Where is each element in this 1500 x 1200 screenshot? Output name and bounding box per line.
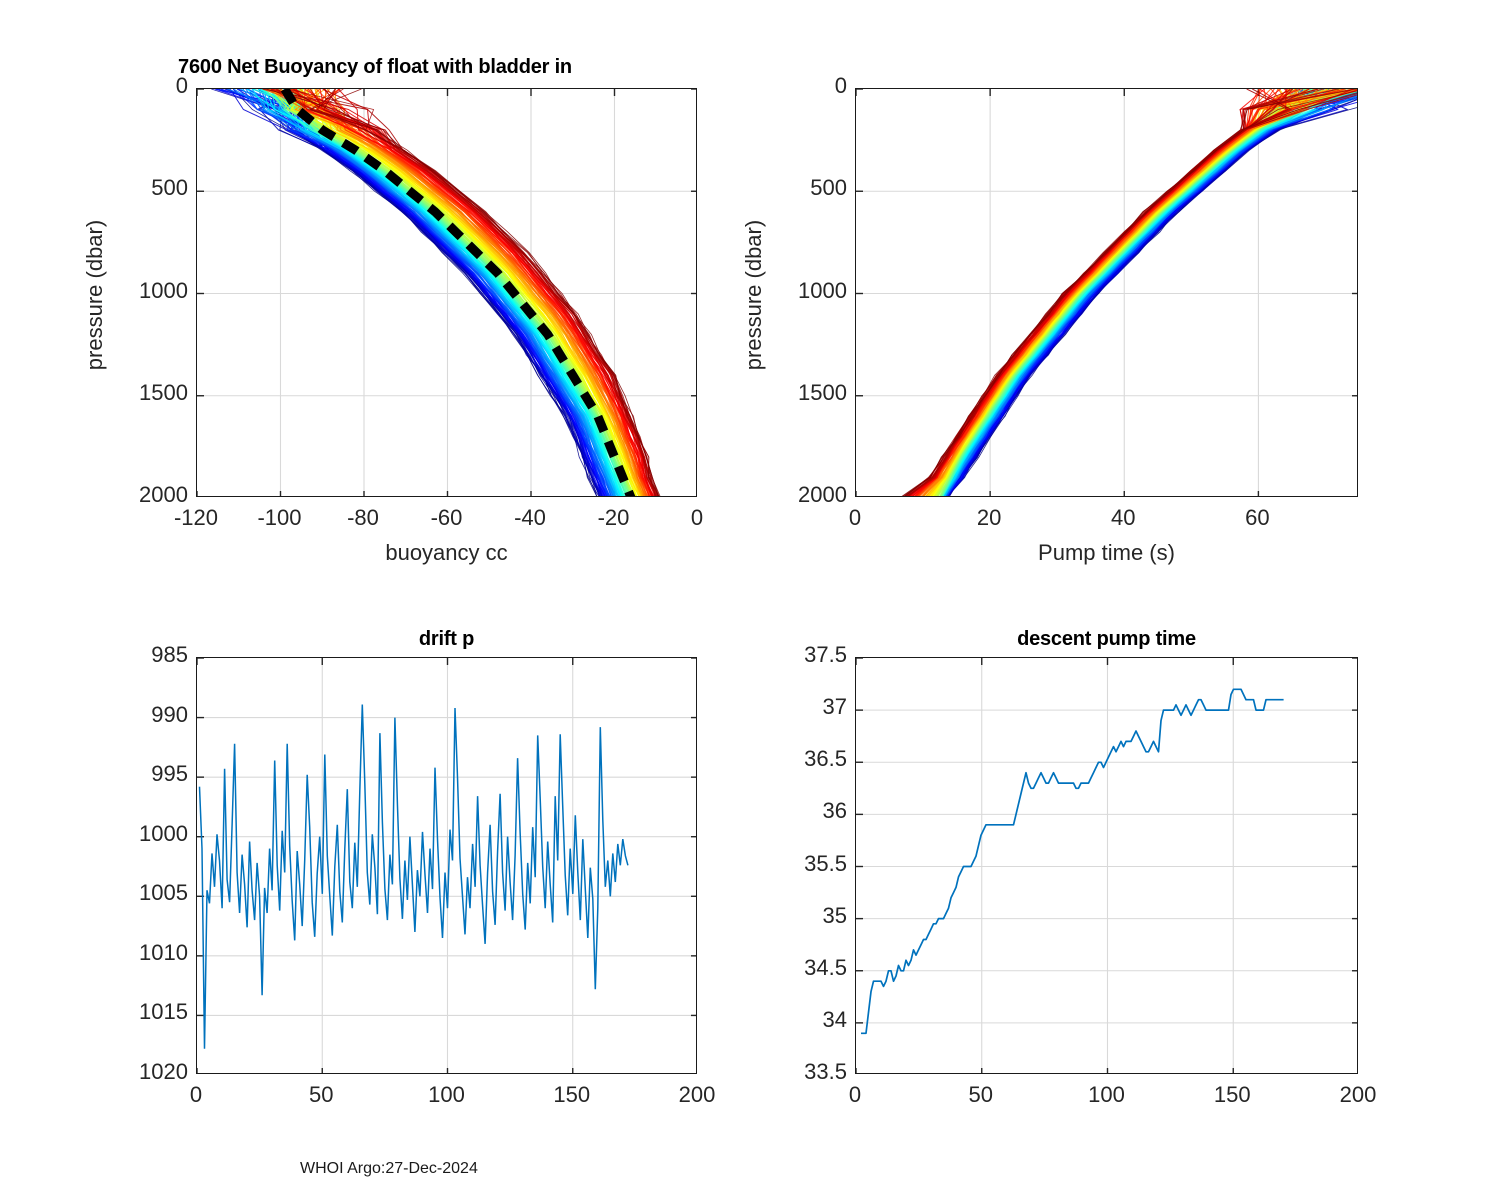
y-tick-label: 37: [761, 694, 847, 720]
y-tick-label: 2000: [102, 482, 188, 508]
x-tick-label: 40: [1083, 505, 1163, 531]
x-tick-label: -60: [407, 505, 487, 531]
buoyancy-xlabel: buoyancy cc: [196, 540, 697, 566]
x-tick-label: -100: [240, 505, 320, 531]
x-tick-label: 150: [1192, 1082, 1272, 1108]
x-tick-label: 0: [815, 505, 895, 531]
y-tick-label: 36.5: [761, 746, 847, 772]
y-tick-label: 985: [102, 642, 188, 668]
pumptime-xlabel: Pump time (s): [855, 540, 1358, 566]
x-tick-label: -40: [490, 505, 570, 531]
x-tick-label: 150: [532, 1082, 612, 1108]
x-tick-label: 50: [281, 1082, 361, 1108]
x-tick-label: 200: [1318, 1082, 1398, 1108]
x-tick-label: 100: [407, 1082, 487, 1108]
y-tick-label: 1015: [102, 999, 188, 1025]
x-tick-label: 20: [949, 505, 1029, 531]
panel-descentpump: descent pump time 05010015020033.53434.5…: [660, 600, 1500, 1160]
y-tick-label: 1000: [102, 278, 188, 304]
x-tick-label: 0: [156, 1082, 236, 1108]
panel-pumptime: pressure (dbar) Pump time (s) 0204060050…: [660, 0, 1500, 600]
pumptime-plot-box: [855, 88, 1358, 497]
x-tick-label: -80: [323, 505, 403, 531]
y-tick-label: 1020: [102, 1059, 188, 1085]
y-tick-label: 35.5: [761, 851, 847, 877]
y-tick-label: 34: [761, 1007, 847, 1033]
x-tick-label: 60: [1217, 505, 1297, 531]
y-tick-label: 990: [102, 702, 188, 728]
y-tick-label: 1005: [102, 880, 188, 906]
descentpump-plot-box: [855, 657, 1358, 1074]
y-tick-label: 1500: [102, 380, 188, 406]
matlab-figure: 7600 Net Buoyancy of float with bladder …: [0, 0, 1500, 1200]
panel-buoyancy: 7600 Net Buoyancy of float with bladder …: [0, 0, 750, 600]
y-tick-label: 1500: [761, 380, 847, 406]
y-tick-label: 33.5: [761, 1059, 847, 1085]
x-tick-label: -120: [156, 505, 236, 531]
x-tick-label: 100: [1067, 1082, 1147, 1108]
y-tick-label: 1000: [761, 278, 847, 304]
x-tick-label: 50: [941, 1082, 1021, 1108]
y-tick-label: 500: [102, 175, 188, 201]
y-tick-label: 500: [761, 175, 847, 201]
driftp-title: drift p: [196, 628, 697, 651]
driftp-plot-box: [196, 657, 697, 1074]
x-tick-label: -20: [574, 505, 654, 531]
buoyancy-plot-box: [196, 88, 697, 497]
panel-driftp: drift p 05010015020098599099510001005101…: [0, 600, 750, 1160]
y-tick-label: 36: [761, 798, 847, 824]
y-tick-label: 34.5: [761, 955, 847, 981]
y-tick-label: 37.5: [761, 642, 847, 668]
figure-footer: WHOI Argo:27-Dec-2024: [300, 1160, 478, 1178]
x-tick-label: 0: [815, 1082, 895, 1108]
descentpump-title: descent pump time: [855, 628, 1358, 651]
y-tick-label: 35: [761, 903, 847, 929]
y-tick-label: 2000: [761, 482, 847, 508]
y-tick-label: 995: [102, 761, 188, 787]
y-tick-label: 1000: [102, 821, 188, 847]
y-tick-label: 0: [102, 73, 188, 99]
y-tick-label: 0: [761, 73, 847, 99]
y-tick-label: 1010: [102, 940, 188, 966]
